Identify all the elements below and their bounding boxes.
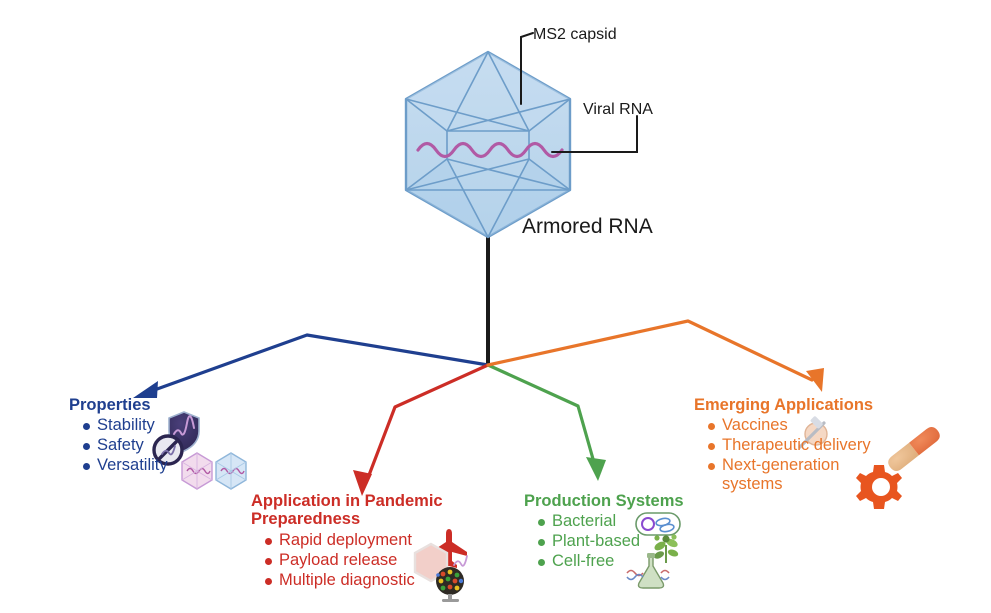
diagram-svg (0, 0, 991, 613)
list-item-label: Vaccines (722, 416, 788, 435)
bullet-icon (265, 578, 272, 585)
list-item: Bacterial (538, 512, 724, 531)
callout-label-ms2-capsid: MS2 capsid (533, 27, 617, 43)
list-item-label: Multiple diagnostic (279, 571, 415, 590)
branch-properties: Properties Stability Safety Versatility (69, 396, 269, 475)
bullet-icon (83, 463, 90, 470)
branch-heading-line-1: Application in Pandemic (251, 492, 481, 510)
callout-label-viral-rna: Viral RNA (583, 102, 653, 118)
list-item-label: Cell-free (552, 552, 614, 571)
branch-emerging: Emerging Applications Vaccines Therapeut… (694, 396, 924, 494)
list-item: Rapid deployment (265, 531, 481, 550)
list-item-label: Safety (97, 436, 144, 455)
bullet-icon (265, 538, 272, 545)
bullet-icon (708, 443, 715, 450)
list-item-label: Next-generation systems (722, 456, 839, 494)
list-item: Plant-based (538, 532, 724, 551)
bullet-icon (83, 443, 90, 450)
list-item: Vaccines (708, 416, 924, 435)
branch-heading-emerging: Emerging Applications (694, 396, 924, 414)
arrow-production (488, 365, 606, 481)
branch-list-production: Bacterial Plant-based Cell-free (524, 512, 724, 570)
branch-list-emerging: Vaccines Therapeutic delivery Next-gener… (694, 416, 924, 493)
list-item-label: Versatility (97, 456, 168, 475)
list-item: Multiple diagnostic (265, 571, 481, 590)
arrow-pandemic (353, 365, 488, 496)
list-item: Cell-free (538, 552, 724, 571)
list-item: Safety (83, 436, 269, 455)
branch-list-pandemic: Rapid deployment Payload release Multipl… (251, 531, 481, 589)
list-item: Payload release (265, 551, 481, 570)
bullet-icon (265, 558, 272, 565)
branch-production: Production Systems Bacterial Plant-based… (524, 492, 724, 571)
bullet-icon (83, 423, 90, 430)
list-item-label: Rapid deployment (279, 531, 412, 550)
branch-heading-properties: Properties (69, 396, 269, 414)
branch-list-properties: Stability Safety Versatility (69, 416, 269, 474)
bullet-icon (708, 463, 715, 470)
list-item: Next-generation systems (708, 456, 924, 494)
arrow-emerging (488, 321, 824, 392)
branch-pandemic: Application in Pandemic Preparedness Rap… (251, 492, 481, 589)
list-item-label: Plant-based (552, 532, 640, 551)
list-item-label: Payload release (279, 551, 397, 570)
bullet-icon (538, 519, 545, 526)
list-item: Versatility (83, 456, 269, 475)
bullet-icon (538, 539, 545, 546)
branch-heading-line-2: Preparedness (251, 510, 481, 528)
list-item-label-line-1: Next-generation (722, 456, 839, 474)
branch-heading-pandemic: Application in Pandemic Preparedness (251, 492, 481, 529)
list-item: Stability (83, 416, 269, 435)
bullet-icon (708, 423, 715, 430)
page-title: Armored RNA (522, 216, 653, 237)
list-item-label: Therapeutic delivery (722, 436, 871, 455)
list-item-label: Stability (97, 416, 155, 435)
list-item-label-line-2: systems (722, 475, 783, 493)
branch-heading-production: Production Systems (524, 492, 724, 510)
list-item-label: Bacterial (552, 512, 616, 531)
bullet-icon (538, 559, 545, 566)
diagram-canvas: MS2 capsid Viral RNA Armored RNA Propert… (0, 0, 991, 613)
list-item: Therapeutic delivery (708, 436, 924, 455)
